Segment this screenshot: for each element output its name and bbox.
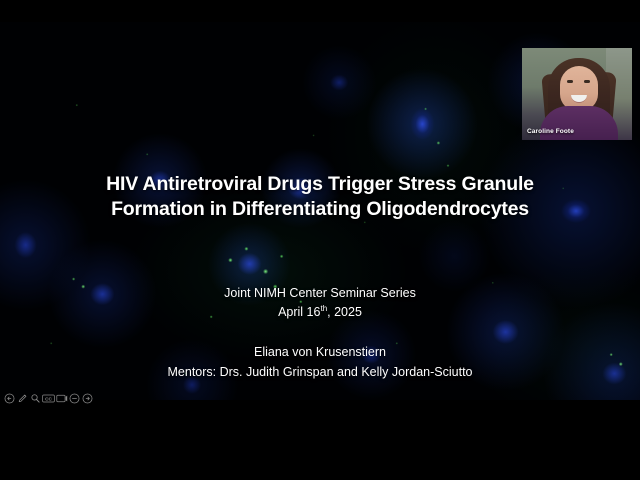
player-control-bar: CC [0,388,640,408]
slide-date: April 16th, 2025 [0,303,640,322]
closed-captions-icon[interactable]: CC [42,391,55,405]
back-arrow-circle-icon[interactable] [3,391,16,405]
slide-date-main: April 16 [278,305,320,319]
slide-title-line-2: Formation in Differentiating Oligodendro… [0,197,640,222]
pencil-icon[interactable] [16,391,29,405]
svg-text:CC: CC [45,396,52,401]
forward-arrow-circle-icon[interactable] [81,391,94,405]
magnifier-icon[interactable] [29,391,42,405]
video-player: HIV Antiretroviral Drugs Trigger Stress … [0,0,640,480]
webcam-participant-name: Caroline Foote [527,128,574,135]
slide-title-line-1: HIV Antiretroviral Drugs Trigger Stress … [0,172,640,197]
webcam-pip-panel[interactable]: Caroline Foote [522,48,632,140]
slide-title: HIV Antiretroviral Drugs Trigger Stress … [0,172,640,222]
minus-circle-icon[interactable] [68,391,81,405]
slide-date-year: , 2025 [327,305,362,319]
webcam-eye-right [584,80,590,83]
screen-icon[interactable] [55,391,68,405]
slide-presenter-name: Eliana von Krusenstiern [0,343,640,362]
webcam-face [560,66,598,111]
webcam-eye-left [567,80,573,83]
slide-mentors-line: Mentors: Drs. Judith Grinspan and Kelly … [0,363,640,382]
slide-series-label: Joint NIMH Center Seminar Series [0,284,640,303]
